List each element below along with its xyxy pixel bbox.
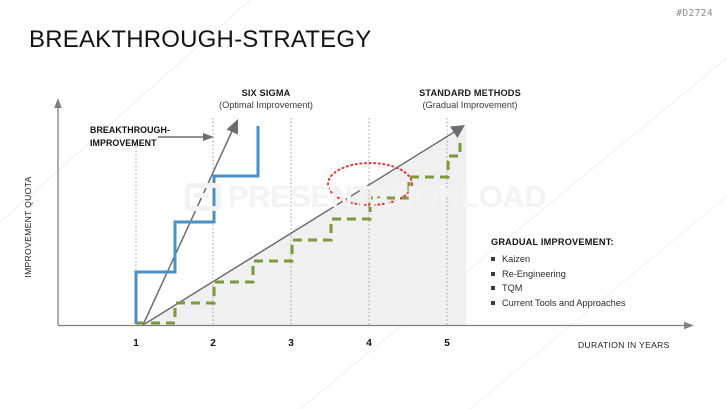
square-bullet-icon — [491, 301, 495, 305]
list-item: TQM — [491, 283, 625, 294]
six-sigma-label: SIX SIGMA (Optimal Improvement) — [205, 87, 327, 111]
list-item-label: Re-Engineering — [502, 269, 566, 279]
x-tick-5: 5 — [437, 338, 457, 349]
x-tick-2: 2 — [203, 338, 223, 349]
legend-title: GRADUAL IMPROVEMENT: — [491, 237, 625, 247]
square-bullet-icon — [491, 257, 495, 261]
list-item-label: Current Tools and Approaches — [502, 298, 625, 308]
legend-list: Kaizen Re-Engineering TQM Current Tools … — [491, 254, 625, 309]
list-item: Kaizen — [491, 254, 625, 265]
slide-canvas: #D2724 BREAKTHROUGH-STRATEGY — [0, 0, 727, 409]
x-axis-label: DURATION IN YEARS — [578, 340, 670, 350]
six-sigma-heading: SIX SIGMA — [205, 87, 327, 99]
breakthrough-callout-line1: BREAKTHROUGH- — [90, 124, 170, 137]
x-tick-3: 3 — [281, 338, 301, 349]
breakthrough-improvement-callout: BREAKTHROUGH- IMPROVEMENT — [90, 124, 170, 149]
x-tick-1: 1 — [126, 338, 146, 349]
standard-methods-subtitle: (Gradual Improvement) — [400, 99, 540, 111]
x-tick-4: 4 — [359, 338, 379, 349]
gradual-improvement-legend: GRADUAL IMPROVEMENT: Kaizen Re-Engineeri… — [491, 237, 625, 312]
square-bullet-icon — [491, 272, 495, 276]
list-item: Current Tools and Approaches — [491, 298, 625, 309]
six-sigma-subtitle: (Optimal Improvement) — [205, 99, 327, 111]
standard-methods-label: STANDARD METHODS (Gradual Improvement) — [400, 87, 540, 111]
breakthrough-callout-line2: IMPROVEMENT — [90, 137, 170, 150]
standard-methods-heading: STANDARD METHODS — [400, 87, 540, 99]
list-item-label: TQM — [502, 283, 522, 293]
list-item: Re-Engineering — [491, 269, 625, 280]
square-bullet-icon — [491, 286, 495, 290]
y-axis-label: IMPROVEMENT QUOTA — [23, 172, 33, 282]
list-item-label: Kaizen — [502, 254, 530, 264]
